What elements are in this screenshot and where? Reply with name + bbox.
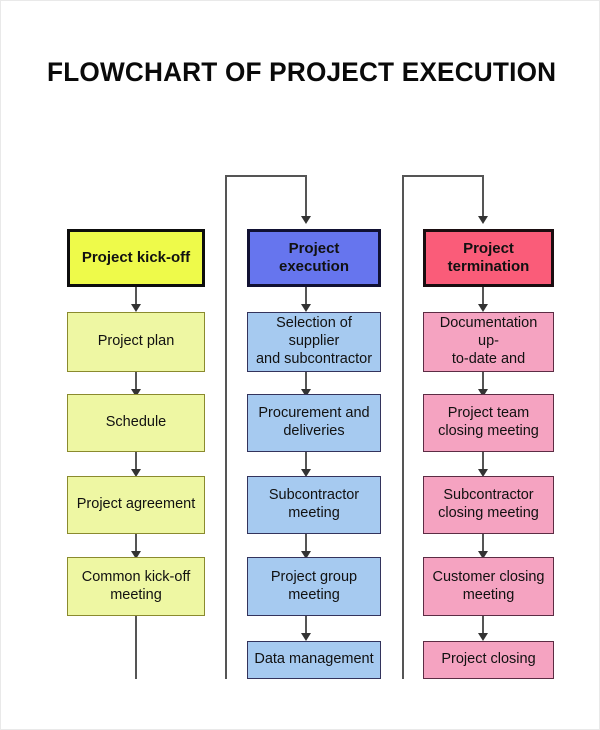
connector-c3-feed-horizontal	[402, 175, 484, 177]
node-label: Subcontractormeeting	[265, 487, 363, 522]
node-project-kick-off[interactable]: Project kick-off	[67, 229, 205, 287]
node-label: Project teamclosing meeting	[434, 405, 543, 440]
node-subcontractor-closing-meeting[interactable]: Subcontractorclosing meeting	[423, 476, 554, 534]
connector-c3-feed-riser	[402, 175, 404, 679]
node-label: Projectexecution	[275, 240, 353, 277]
arrow-c1-s1	[131, 304, 141, 312]
arrow-c3-s1	[478, 304, 488, 312]
flowchart-canvas: FLOWCHART OF PROJECT EXECUTION	[1, 1, 599, 729]
node-label: Project plan	[94, 333, 179, 351]
node-label: Subcontractorclosing meeting	[434, 487, 543, 522]
node-label: Customer closingmeeting	[428, 569, 548, 604]
node-label: Data management	[250, 651, 377, 669]
connector-c1-tail-down	[135, 616, 137, 679]
node-label: Project groupmeeting	[267, 569, 361, 604]
connector-c3-feed-drop	[482, 175, 484, 219]
connector-c2-feed-drop	[305, 175, 307, 219]
node-project-group-meeting[interactable]: Project groupmeeting	[247, 557, 381, 616]
node-label: Documentation up-to-date and	[424, 315, 553, 368]
node-label: Project agreement	[73, 496, 199, 514]
arrow-c2-s1	[301, 304, 311, 312]
connector-c2-feed-riser	[225, 175, 227, 679]
node-selection-of-supplier[interactable]: Selection of supplierand subcontractor	[247, 312, 381, 372]
arrow-c3-header	[478, 216, 488, 224]
node-project-execution[interactable]: Projectexecution	[247, 229, 381, 287]
arrow-c3-s5	[478, 633, 488, 641]
arrow-c2-header	[301, 216, 311, 224]
node-label: Project closing	[437, 651, 539, 669]
node-label: Projecttermination	[444, 240, 534, 277]
arrow-c2-s5	[301, 633, 311, 641]
node-project-plan[interactable]: Project plan	[67, 312, 205, 372]
node-label: Procurement anddeliveries	[254, 405, 373, 440]
node-project-closing[interactable]: Project closing	[423, 641, 554, 679]
node-project-agreement[interactable]: Project agreement	[67, 476, 205, 534]
node-project-termination[interactable]: Projecttermination	[423, 229, 554, 287]
node-label: Schedule	[102, 414, 170, 432]
page-title: FLOWCHART OF PROJECT EXECUTION	[47, 57, 556, 88]
node-label: Selection of supplierand subcontractor	[248, 315, 380, 368]
node-documentation-up-to-date[interactable]: Documentation up-to-date and	[423, 312, 554, 372]
node-procurement-and-deliveries[interactable]: Procurement anddeliveries	[247, 394, 381, 452]
flowchart-page: FLOWCHART OF PROJECT EXECUTION	[0, 0, 600, 730]
node-data-management[interactable]: Data management	[247, 641, 381, 679]
connector-c2-feed-horizontal	[225, 175, 307, 177]
node-common-kick-off-meeting[interactable]: Common kick-offmeeting	[67, 557, 205, 616]
node-customer-closing-meeting[interactable]: Customer closingmeeting	[423, 557, 554, 616]
node-subcontractor-meeting[interactable]: Subcontractormeeting	[247, 476, 381, 534]
node-label: Project kick-off	[78, 249, 194, 267]
node-project-team-closing-meeting[interactable]: Project teamclosing meeting	[423, 394, 554, 452]
node-schedule[interactable]: Schedule	[67, 394, 205, 452]
node-label: Common kick-offmeeting	[78, 569, 195, 604]
